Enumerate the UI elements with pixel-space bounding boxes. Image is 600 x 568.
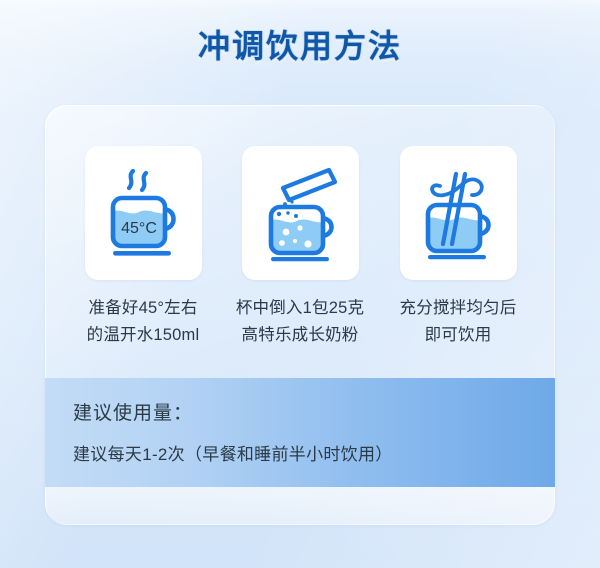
mug-temperature-label: 45°C [121, 220, 157, 237]
step-card-2 [242, 146, 359, 280]
panel-footer-strip [45, 487, 555, 525]
step-caption-2-line2: 高特乐成长奶粉 [220, 322, 380, 349]
recommended-dosage-banner: 建议使用量： 建议每天1-2次（早餐和睡前半小时饮用） [45, 378, 555, 487]
step-caption-3-line1: 充分搅拌均匀后 [378, 295, 538, 322]
step-icon-cards: 45°C [45, 146, 555, 280]
recommended-dosage-text: 建议每天1-2次（早餐和睡前半小时饮用） [73, 440, 393, 465]
step-caption-2: 杯中倒入1包25克 高特乐成长奶粉 [220, 295, 380, 349]
sachet-pouring-into-mug-icon [255, 164, 347, 262]
step-caption-3-line2: 即可饮用 [378, 322, 538, 349]
step-caption-1-line1: 准备好45°左右 [63, 295, 223, 322]
step-card-3 [400, 146, 517, 280]
step-caption-2-line1: 杯中倒入1包25克 [220, 295, 380, 322]
page-title: 冲调饮用方法 [198, 21, 402, 67]
instructions-panel: 45°C [45, 105, 555, 525]
step-captions: 准备好45°左右 的温开水150ml 杯中倒入1包25克 高特乐成长奶粉 充分搅… [45, 295, 555, 375]
mug-with-stirring-sticks-icon [416, 164, 502, 262]
mug-with-steam-45c-icon: 45°C [101, 165, 187, 261]
step-caption-1: 准备好45°左右 的温开水150ml [63, 295, 223, 349]
step-caption-1-line2: 的温开水150ml [63, 322, 223, 349]
instruction-page: 冲调饮用方法 [0, 0, 600, 568]
recommended-dosage-heading: 建议使用量： [73, 398, 193, 425]
page-title-wrap: 冲调饮用方法 [0, 21, 600, 67]
step-caption-3: 充分搅拌均匀后 即可饮用 [378, 295, 538, 349]
step-card-1: 45°C [85, 146, 202, 280]
